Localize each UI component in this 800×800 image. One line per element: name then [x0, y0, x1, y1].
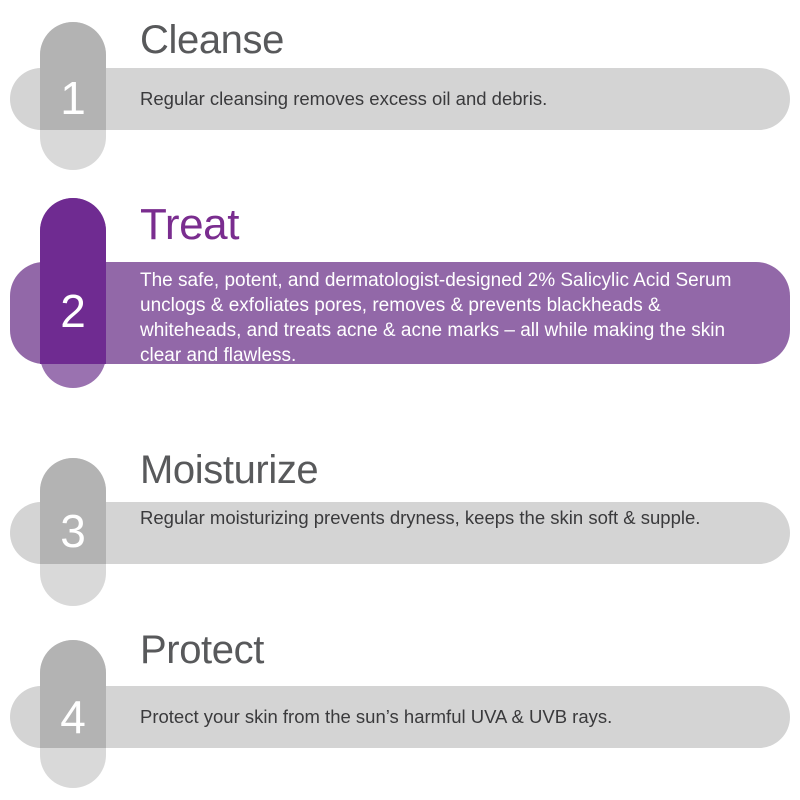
step-number: 1	[40, 75, 106, 121]
step-description: The safe, potent, and dermatologist-desi…	[140, 268, 760, 368]
skincare-routine-infographic: Cleanse 1 Regular cleansing removes exce…	[0, 0, 800, 800]
step-number-pill-upper	[40, 198, 106, 364]
step-number: 3	[40, 508, 106, 554]
step-number: 4	[40, 694, 106, 740]
step-description: Regular moisturizing prevents dryness, k…	[140, 505, 760, 531]
step-heading: Cleanse	[140, 18, 284, 62]
step-heading: Treat	[140, 202, 239, 248]
step-item-treat[interactable]: Treat 2 The safe, potent, and dermatolog…	[0, 190, 800, 420]
step-heading: Moisturize	[140, 448, 318, 492]
step-item-cleanse[interactable]: Cleanse 1 Regular cleansing removes exce…	[0, 0, 800, 190]
step-description: Regular cleansing removes excess oil and…	[140, 86, 760, 112]
step-number: 2	[40, 288, 106, 334]
step-description: Protect your skin from the sun’s harmful…	[140, 704, 760, 730]
step-item-moisturize[interactable]: Moisturize 3 Regular moisturizing preven…	[0, 420, 800, 610]
step-heading: Protect	[140, 628, 264, 672]
step-item-protect[interactable]: Protect 4 Protect your skin from the sun…	[0, 610, 800, 800]
